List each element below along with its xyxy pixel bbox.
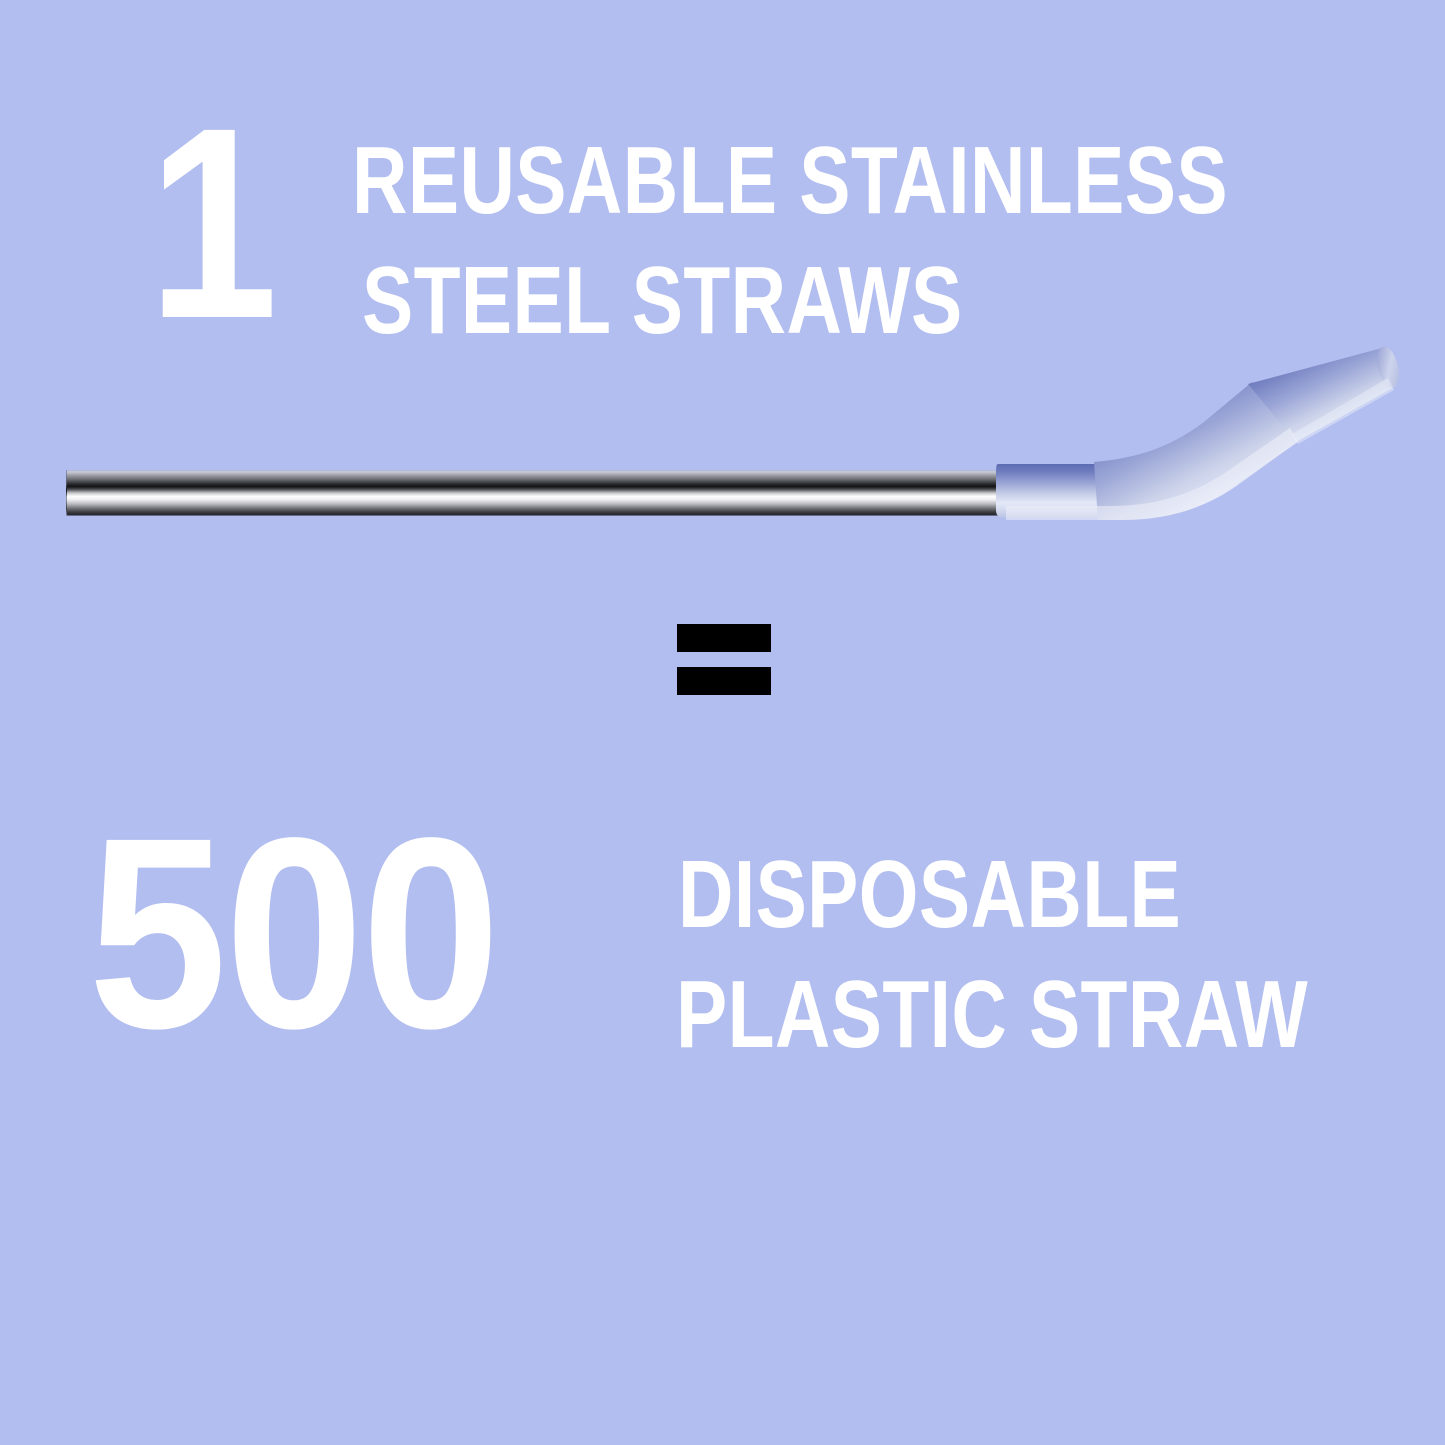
bottom-headline-line-2: PLASTIC STRAW [676, 960, 1308, 1070]
quantity-five-hundred: 500 [88, 822, 498, 1045]
infographic-canvas: 1 REUSABLE STAINLESS STEEL STRAWS [0, 0, 1445, 1445]
equals-sign [677, 624, 771, 694]
bottom-headline-line-1: DISPOSABLE [678, 840, 1181, 950]
stainless-steel-straw-illustration [0, 0, 1445, 260]
top-headline-line-2: STEEL STRAWS [362, 246, 963, 356]
equals-bar-bottom [677, 667, 771, 695]
silicone-mouthpiece-tip [990, 330, 1410, 560]
equals-bar-top [677, 624, 771, 652]
plastic-bendy-straw-illustration [0, 1060, 1445, 1320]
metal-straw-shaft [67, 470, 1007, 516]
